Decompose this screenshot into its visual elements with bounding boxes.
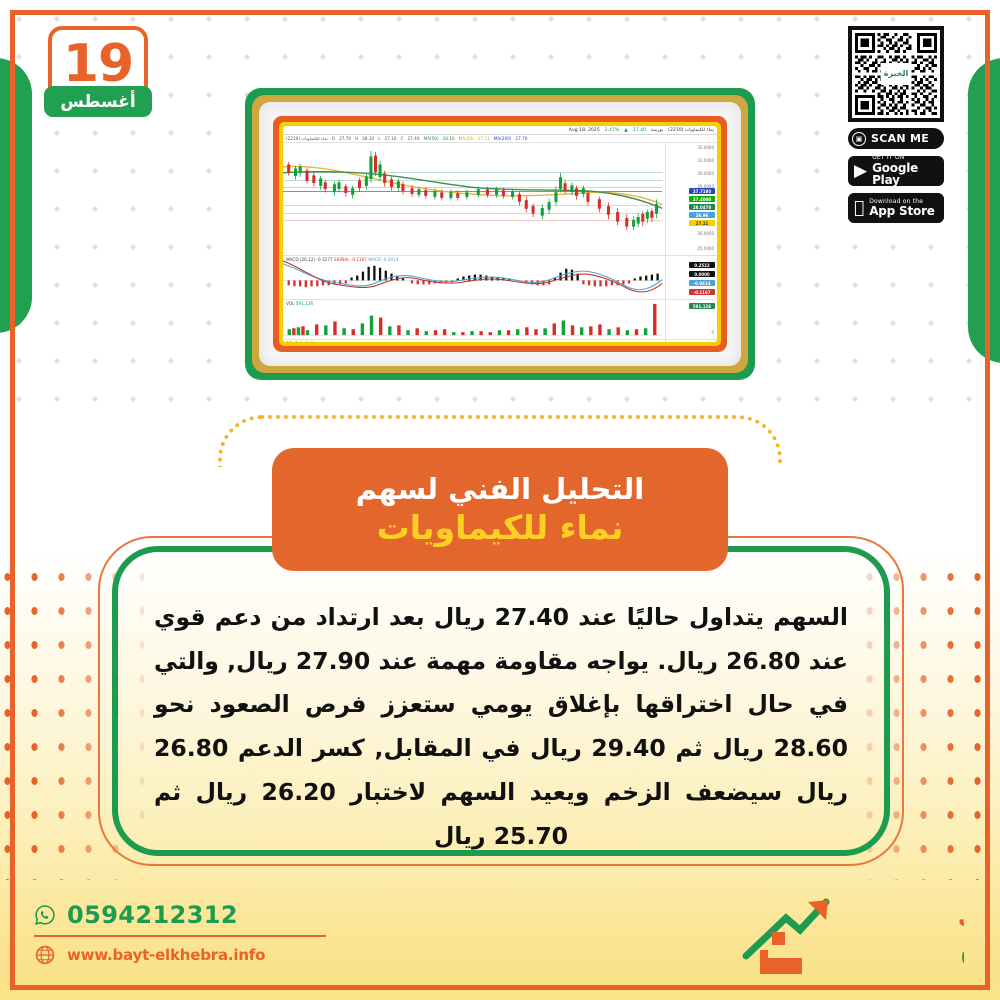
macd-label: MACD (26,12) -0.3277 SIGNAL -0.1167 MACD… (286, 257, 398, 262)
price-badge: 27.4000 (689, 196, 715, 202)
decor-pill-left (0, 58, 32, 333)
globe-icon (34, 944, 56, 966)
ohlc-h-label: H (355, 136, 358, 141)
ma50-value: 28.10 (443, 136, 455, 141)
price-tick: 26.0000 (697, 231, 714, 236)
analysis-text: السهم يتداول حاليًا عند 27.40 ريال بعد ا… (154, 596, 848, 858)
macd-v2: -0.0414 (382, 257, 398, 262)
poster-canvas: 19 أغسطس (0, 0, 1000, 1000)
volume-axis: 591,126 0 (665, 300, 717, 339)
price-tick: 31.0000 (697, 158, 714, 163)
ohlc-l: 27.10 (385, 136, 397, 141)
brand-word-khebra: الخبرة (960, 924, 964, 975)
chart-header: نماء للكيماويات (2210) بورصة 27.40 ▲ 2.4… (283, 126, 717, 135)
ohlc-h: 28.10 (362, 136, 374, 141)
price-badge: 27.11 (689, 220, 715, 226)
decor-pill-right (968, 58, 1000, 363)
chart-exchange: بورصة (651, 128, 663, 133)
qr-center-logo: الخبرة (881, 63, 911, 85)
apple-icon:  (854, 200, 864, 217)
macd-v3: -0.1167 (351, 257, 367, 262)
macd-l1: MACD (26,12) (286, 257, 315, 262)
macd-badge: -0.1167 (689, 289, 715, 295)
title-banner: التحليل الفني لسهم نماء للكيماويات (272, 448, 728, 571)
price-axis: 32.0000 31.0000 30.0000 29.0000 26.0000 … (665, 143, 717, 255)
ma20-label: MA(20) (459, 136, 474, 141)
google-play-icon: ▶ (854, 163, 867, 180)
macd-badge: 0.2522 (689, 262, 715, 268)
vol-v: 591,126 (296, 301, 313, 306)
price-badge: 27.7180 (689, 188, 715, 194)
scan-me-label: SCAN ME (871, 132, 929, 145)
vol-l: VOL (286, 301, 294, 306)
qr-icon: ▣ (852, 132, 866, 146)
volume-tick: 0 (711, 330, 714, 335)
macd-axis: 0.2522 0.0000 -0.0414 -0.1167 (665, 256, 717, 299)
volume-badge: 591,126 (689, 303, 715, 309)
ohlc-l-label: L (378, 136, 380, 141)
chart-screenshot[interactable]: نماء للكيماويات (2210) بورصة 27.40 ▲ 2.4… (283, 126, 717, 342)
title-line-1: التحليل الفني لسهم (356, 472, 645, 506)
macd-l3: SIGNAL (334, 257, 349, 262)
price-tick: 32.0000 (697, 145, 714, 150)
app-store-badge[interactable]:  Download on the App Store (848, 193, 944, 223)
app-store-line2: App Store (869, 205, 935, 218)
rsi-pane: RSI (14) 63.53 70.0000 63.7193 40.0000 3… (283, 340, 717, 342)
volume-pane: VOL 591,126 (283, 300, 717, 340)
brand-logo: بيت الخبرة (734, 892, 964, 976)
rsi-l: RSI (14) (286, 341, 303, 342)
ma50-label: MA(50) (424, 136, 439, 141)
scan-me-button[interactable]: ▣ SCAN ME (848, 128, 944, 149)
title-line-2: نماء للكيماويات (377, 508, 624, 547)
footer-contact: 0594212312 www.bayt-elkhebra.info (34, 901, 326, 966)
qr-column: الخبرة ▣ SCAN ME ▶ GET IT ON Google Play… (848, 26, 944, 223)
macd-badge: -0.0414 (689, 280, 715, 286)
macd-v1: -0.3277 (316, 257, 332, 262)
date-day: 19 (63, 38, 133, 90)
chart-arrow-icon: ▲ (624, 128, 628, 133)
rsi-axis: 70.0000 63.7193 40.0000 30.0000 (665, 340, 717, 342)
macd-l2: MACD (368, 257, 381, 262)
chart-symbol: نماء للكيماويات (2210) (668, 128, 714, 133)
ma200-value: 27.70 (515, 136, 527, 141)
website-url: www.bayt-elkhebra.info (67, 946, 265, 964)
ma200-label: MA(200) (494, 136, 512, 141)
price-badge: 28.0478 (689, 204, 715, 210)
price-tick: 25.0000 (697, 246, 714, 251)
ma20-value: 27.11 (478, 136, 490, 141)
chart-change-pct: 2.47% (605, 128, 620, 133)
macd-pane: MACD (26,12) -0.3277 SIGNAL -0.1167 MACD… (283, 256, 717, 300)
chart-ohlc-bar: نماء للكيماويات (2210) O 27.70 H 28.10 L… (283, 135, 717, 143)
google-play-line2: Google Play (872, 162, 938, 187)
ohlc-c-label: C (401, 136, 404, 141)
date-badge: 19 أغسطس (48, 26, 148, 117)
phone-row[interactable]: 0594212312 (34, 901, 326, 937)
price-pane: 32.0000 31.0000 30.0000 29.0000 26.0000 … (283, 143, 717, 256)
ohlc-o-label: O (332, 136, 335, 141)
website-row[interactable]: www.bayt-elkhebra.info (34, 937, 326, 966)
ohlc-o: 27.70 (339, 136, 351, 141)
analysis-box: السهم يتداول حاليًا عند 27.40 ريال بعد ا… (112, 546, 890, 856)
price-tick: 30.0000 (697, 171, 714, 176)
chart-card: نماء للكيماويات (2210) بورصة 27.40 ▲ 2.4… (245, 88, 755, 380)
rsi-v: 63.53 (304, 341, 316, 342)
chart-date: Aug 18, 2025 (569, 128, 600, 133)
whatsapp-icon (34, 904, 56, 926)
phone-number: 0594212312 (67, 901, 238, 929)
date-month: أغسطس (44, 86, 152, 117)
price-badge: 26.96 (689, 212, 715, 218)
macd-badge: 0.0000 (689, 271, 715, 277)
chart-last-price: 27.40 (633, 128, 646, 133)
google-play-badge[interactable]: ▶ GET IT ON Google Play (848, 156, 944, 186)
rsi-label: RSI (14) 63.53 (286, 341, 316, 342)
ohlc-c: 27.40 (408, 136, 420, 141)
ohlc-title: نماء للكيماويات (2210) (286, 136, 328, 141)
volume-label: VOL 591,126 (286, 301, 313, 306)
growth-arrow-icon (746, 900, 828, 974)
qr-code[interactable]: الخبرة (848, 26, 944, 122)
